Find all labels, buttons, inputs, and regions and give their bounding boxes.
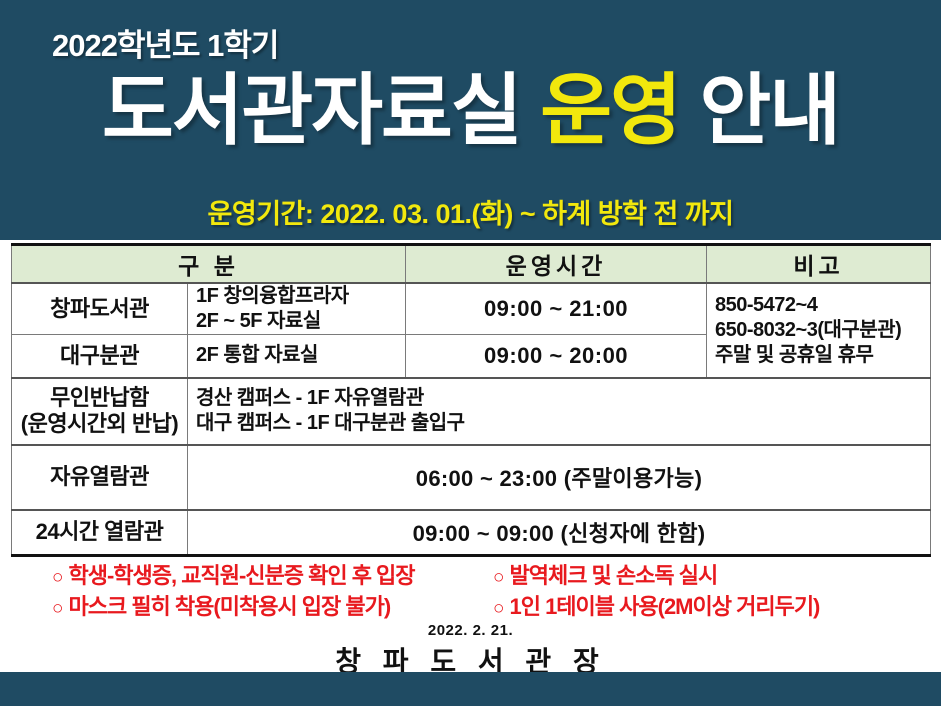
- notice-text: 발역체크 및 손소독 실시: [509, 563, 717, 588]
- notice-list: ○학생-학생증, 교직원-신분증 확인 후 입장 ○마스크 필히 착용(미착용시…: [0, 556, 941, 620]
- notice-item-distancing: ○1인 1테이블 사용(2M이상 거리두기): [493, 589, 819, 621]
- header-banner: 2022학년도 1학기 도서관자료실 운영 안내 운영기간: 2022. 03.…: [0, 0, 941, 240]
- row-hours-24h-reading-room: 09:00 ~ 09:00 (신청자에 한함): [188, 510, 931, 556]
- column-header-remarks: 비고: [707, 245, 931, 284]
- circle-bullet-icon: ○: [52, 598, 62, 619]
- banner-kicker: 2022학년도 1학기: [52, 20, 278, 65]
- row-place-changpa-library: 1F 창의융합프라자 2F ~ 5F 자료실: [188, 283, 406, 335]
- column-header-hours: 운영시간: [406, 245, 707, 284]
- row-remarks-contact: 850-5472~4 650-8032~3(대구분관) 주말 및 공휴일 휴무: [707, 283, 931, 378]
- table-row: 창파도서관 1F 창의융합프라자 2F ~ 5F 자료실 09:00 ~ 21:…: [12, 283, 931, 335]
- table-header-row: 구 분 운영시간 비고: [12, 245, 931, 284]
- row-label-book-drop: 무인반납함 (운영시간외 반납): [12, 378, 188, 445]
- notice-text: 학생-학생증, 교직원-신분증 확인 후 입장: [68, 563, 414, 588]
- title-highlight: 운영: [540, 66, 680, 154]
- row-label-changpa-library: 창파도서관: [12, 283, 188, 335]
- table-row: 24시간 열람관 09:00 ~ 09:00 (신청자에 한함): [12, 510, 931, 556]
- footer-date: 2022. 2. 21.: [0, 622, 941, 639]
- poster-root: 2022학년도 1학기 도서관자료실 운영 안내 운영기간: 2022. 03.…: [0, 0, 941, 706]
- column-header-division: 구 분: [12, 245, 406, 284]
- notice-item-temperature-check: ○발역체크 및 손소독 실시: [493, 558, 717, 590]
- banner-subtitle: 운영기간: 2022. 03. 01.(화) ~ 하계 방학 전 까지: [0, 192, 941, 231]
- row-label-reading-room: 자유열람관: [12, 445, 188, 510]
- row-hours-daegu-branch: 09:00 ~ 20:00: [406, 335, 707, 378]
- notice-text: 마스크 필히 착용(미착용시 입장 불가): [68, 594, 390, 619]
- row-place-daegu-branch: 2F 통합 자료실: [188, 335, 406, 378]
- table-row: 무인반납함 (운영시간외 반납) 경산 캠퍼스 - 1F 자유열람관 대구 캠퍼…: [12, 378, 931, 445]
- footer-bar: [0, 672, 941, 706]
- title-prefix: 도서관자료실: [102, 66, 540, 154]
- row-place-book-drop: 경산 캠퍼스 - 1F 자유열람관 대구 캠퍼스 - 1F 대구분관 출입구: [188, 378, 931, 445]
- page-title: 도서관자료실 운영 안내: [0, 71, 941, 149]
- row-hours-reading-room: 06:00 ~ 23:00 (주말이용가능): [188, 445, 931, 510]
- schedule-table: 구 분 운영시간 비고 창파도서관 1F 창의융합프라자 2F ~ 5F 자료실…: [11, 243, 931, 557]
- row-hours-changpa-library: 09:00 ~ 21:00: [406, 283, 707, 335]
- circle-bullet-icon: ○: [493, 598, 503, 619]
- circle-bullet-icon: ○: [493, 567, 503, 588]
- title-suffix: 안내: [680, 66, 839, 154]
- circle-bullet-icon: ○: [52, 567, 62, 588]
- row-label-24h-reading-room: 24시간 열람관: [12, 510, 188, 556]
- notice-item-id-check: ○학생-학생증, 교직원-신분증 확인 후 입장: [52, 558, 415, 590]
- notice-text: 1인 1테이블 사용(2M이상 거리두기): [509, 594, 819, 619]
- notice-item-mask: ○마스크 필히 착용(미착용시 입장 불가): [52, 589, 390, 621]
- table-row: 자유열람관 06:00 ~ 23:00 (주말이용가능): [12, 445, 931, 510]
- schedule-table-wrapper: 구 분 운영시간 비고 창파도서관 1F 창의융합프라자 2F ~ 5F 자료실…: [11, 243, 930, 557]
- row-label-daegu-branch: 대구분관: [12, 335, 188, 378]
